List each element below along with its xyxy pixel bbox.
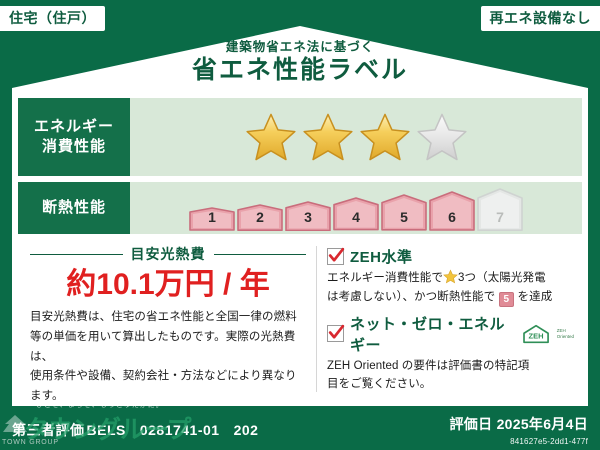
energy-label-line2: 消費性能: [42, 137, 106, 157]
insulation-badge-number: 4: [333, 209, 379, 225]
insulation-badge-number: 2: [237, 209, 283, 225]
rule-right: [214, 254, 307, 255]
star-filled-icon: [244, 111, 298, 163]
svg-text:ZEH: ZEH: [528, 331, 543, 340]
roof-shape: [12, 26, 588, 96]
eval-hash: 841627e5-2dd1-477f: [449, 437, 588, 446]
zeh-standard-title: ZEH水準: [350, 246, 413, 267]
zeh-desc-part-c: を達成: [518, 291, 553, 303]
energy-performance-row: エネルギー 消費性能: [18, 98, 582, 176]
utility-cost-note: 目安光熱費は、住宅の省エネ性能と全国一律の燃料 等の単価を用いて算出したものです…: [30, 308, 306, 407]
net-zero-energy-block: ネット・ゼロ・エネルギー ZEH ZEH Oriented ZEH Orient…: [327, 313, 574, 394]
label-footer: 第三者評価BELS0281741-01202 評価日 2025年6月4日 841…: [0, 406, 600, 450]
star-rating: [244, 111, 469, 163]
energy-performance-value: [130, 98, 582, 176]
insulation-performance-value: 1234567: [130, 182, 582, 234]
label-body-panel: エネルギー 消費性能 断熱性能 1234567 目安光熱費: [12, 92, 588, 406]
zeh-desc-part-b: は考慮しない）、かつ断熱性能で: [327, 291, 495, 303]
zeh-logo-caption: ZEH Oriented: [557, 328, 574, 339]
net-zero-energy-description: ZEH Oriented の要件は評価書の特記項 目をご覧ください。: [327, 357, 574, 394]
net-zero-desc-line1: ZEH Oriented の要件は評価書の特記項: [327, 357, 574, 376]
insulation-badge-6: 6: [429, 191, 475, 231]
zeh-house-logo-icon: ZEH: [521, 322, 551, 346]
insulation-level-badge: 5: [499, 292, 515, 307]
insulation-badge-2: 2: [237, 204, 283, 231]
net-zero-energy-checkbox[interactable]: [327, 325, 344, 342]
star-empty-icon: [415, 111, 469, 163]
utility-cost-heading-text: 目安光熱費: [131, 244, 206, 264]
insulation-badge-number: 7: [477, 209, 523, 225]
inline-star-icon: [443, 269, 458, 284]
insulation-badge-1: 1: [189, 207, 235, 231]
utility-cost-section: 目安光熱費 約10.1万円 / 年 目安光熱費は、住宅の省エネ性能と全国一律の燃…: [18, 238, 316, 402]
zeh-logo-sub2: Oriented: [557, 334, 574, 339]
zeh-standard-block: ZEH水準 エネルギー消費性能で3つ（太陽光発電 は考慮しない）、かつ断熱性能で…: [327, 246, 574, 307]
net-zero-desc-line2: 目をご覧ください。: [327, 375, 574, 394]
eval-date-row: 評価日 2025年6月4日: [449, 414, 588, 434]
utility-cost-note-line2: 等の単価を用いて算出したものです。実際の光熱費は、: [30, 328, 306, 368]
utility-cost-value: 約10.1万円 / 年: [30, 270, 306, 300]
rule-left: [30, 254, 123, 255]
footer-evaluation-id: 第三者評価BELS0281741-01202: [12, 420, 258, 440]
bels-number: 0281741-01: [140, 422, 220, 438]
vertical-divider: [316, 246, 317, 392]
utility-cost-note-line3: 使用条件や設備、契約会社・方法などにより異なります。: [30, 367, 306, 407]
footer-evaluation-date: 評価日 2025年6月4日 841627e5-2dd1-477f: [449, 414, 588, 446]
zeh-standard-description: エネルギー消費性能で3つ（太陽光発電 は考慮しない）、かつ断熱性能で 5 を達成: [327, 269, 574, 307]
zeh-standard-header: ZEH水準: [327, 246, 574, 267]
zeh-desc-star-count: 3つ（太陽光発電: [458, 272, 546, 284]
energy-performance-label: エネルギー 消費性能: [18, 98, 130, 176]
net-zero-energy-header: ネット・ゼロ・エネルギー ZEH ZEH Oriented: [327, 313, 574, 355]
insulation-scale: 1234567: [189, 185, 523, 231]
utility-cost-heading: 目安光熱費: [30, 244, 306, 264]
energy-label-root: 住宅（住戸） 再エネ設備なし 建築物省エネ法に基づく 省エネ性能ラベル エネルギ…: [0, 0, 600, 450]
insulation-badge-7: 7: [477, 188, 523, 231]
eval-date-value: 2025年6月4日: [497, 416, 588, 432]
eval-date-label: 評価日: [449, 416, 492, 432]
insulation-performance-row: 断熱性能 1234567: [18, 182, 582, 234]
energy-label-line1: エネルギー: [34, 117, 114, 137]
insulation-label-line1: 断熱性能: [42, 198, 106, 218]
zeh-desc-part-a: エネルギー消費性能で: [327, 272, 443, 284]
insulation-badge-5: 5: [381, 194, 427, 231]
insulation-badge-number: 1: [189, 209, 235, 225]
insulation-badge-number: 3: [285, 209, 331, 225]
star-filled-icon: [358, 111, 412, 163]
insulation-badge-number: 6: [429, 209, 475, 225]
insulation-performance-label: 断熱性能: [18, 182, 130, 234]
insulation-badge-4: 4: [333, 197, 379, 231]
star-filled-icon: [301, 111, 355, 163]
third-party-eval-label: 第三者評価: [12, 422, 85, 438]
zeh-standard-checkbox[interactable]: [327, 248, 344, 265]
zeh-logo-sub1: ZEH: [557, 328, 566, 333]
net-zero-energy-title: ネット・ゼロ・エネルギー: [350, 313, 515, 355]
bels-label: BELS: [87, 422, 126, 438]
lower-section: 目安光熱費 約10.1万円 / 年 目安光熱費は、住宅の省エネ性能と全国一律の燃…: [18, 238, 582, 402]
insulation-badge-number: 5: [381, 209, 427, 225]
insulation-badge-3: 3: [285, 201, 331, 231]
zeh-section: ZEH水準 エネルギー消費性能で3つ（太陽光発電 は考慮しない）、かつ断熱性能で…: [323, 238, 582, 402]
utility-cost-note-line1: 目安光熱費は、住宅の省エネ性能と全国一律の燃料: [30, 308, 306, 328]
bels-number-secondary: 202: [234, 422, 259, 438]
